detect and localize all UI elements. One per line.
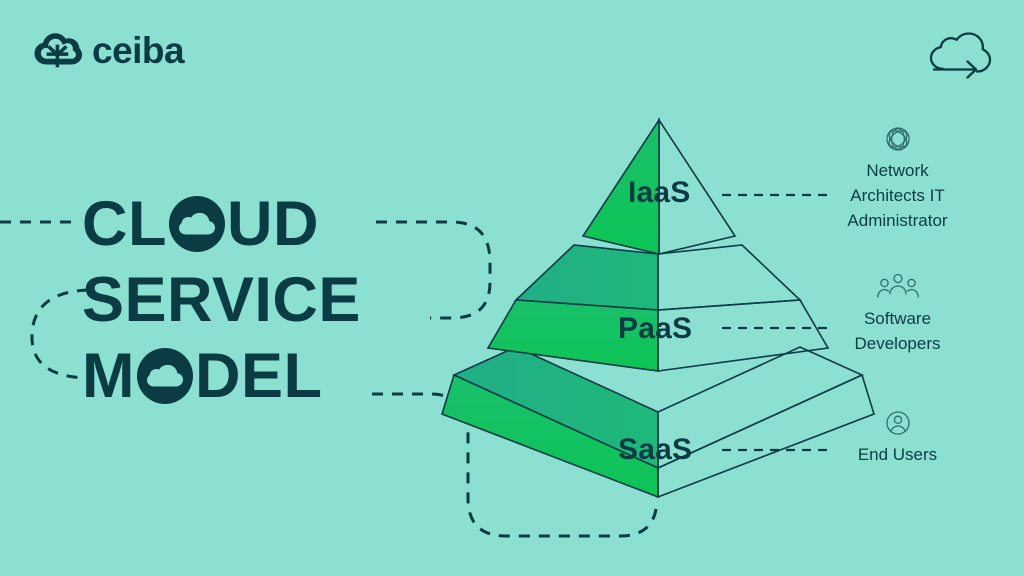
pyramid-tier-label-iaas: IaaS [628, 176, 691, 210]
user-avatar-icon [883, 408, 913, 438]
pyramid-tier-label-saas: SaaS [618, 433, 692, 467]
annotation-line: Software [790, 306, 1005, 331]
annotation-line: End Users [790, 442, 1005, 467]
paas-right-top-face [658, 245, 800, 310]
annotation-line: Network [790, 158, 1005, 183]
annotation-line: Architects IT [790, 183, 1005, 208]
annotation-line: Developers [790, 331, 1005, 356]
pyramid-tier-paas[interactable] [488, 245, 828, 371]
people-group-icon [877, 272, 919, 302]
paas-left-top-face [516, 245, 658, 310]
pyramid-tier-label-paas: PaaS [618, 312, 692, 346]
annotation-line: Administrator [790, 208, 1005, 233]
globe-network-icon [883, 124, 913, 154]
annotation-network-architects: Network Architects IT Administrator [790, 124, 1005, 233]
annotation-software-developers: Software Developers [790, 272, 1005, 356]
infographic-canvas: ceiba CL UD SERVICE M [0, 0, 1024, 576]
annotation-end-users: End Users [790, 408, 1005, 467]
